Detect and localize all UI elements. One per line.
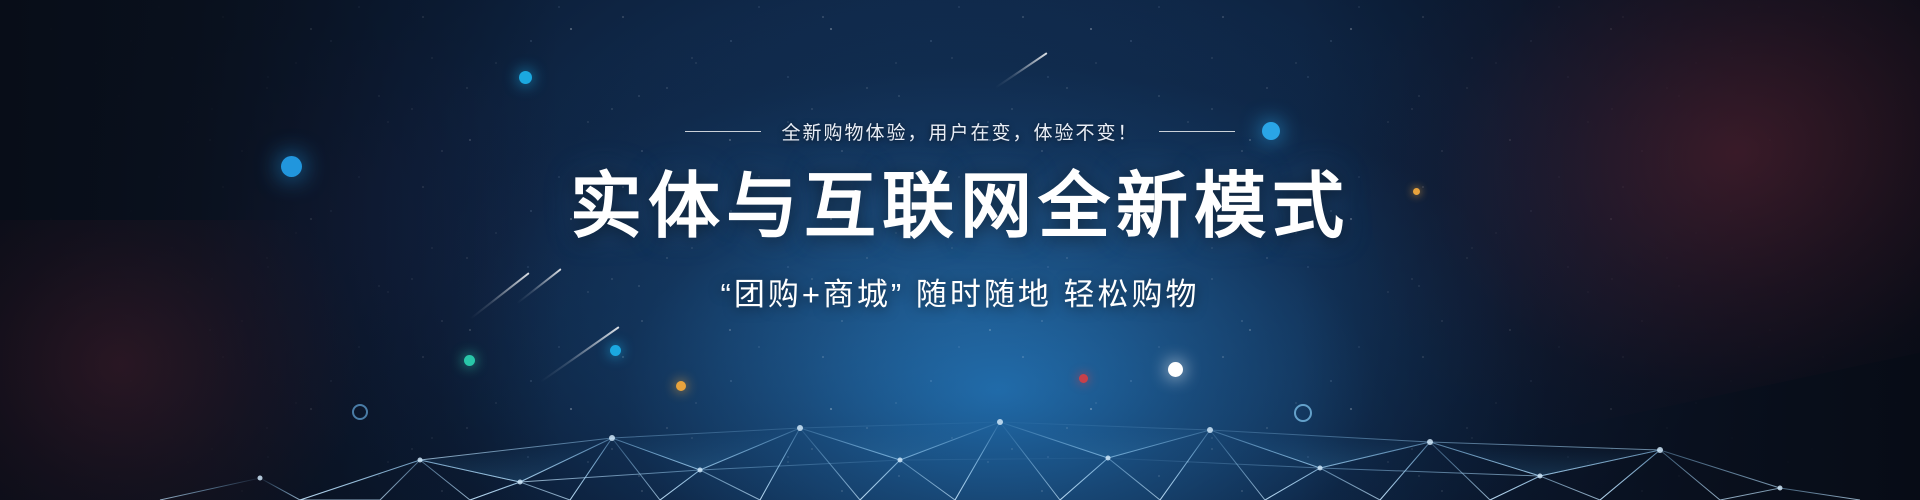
banner-content: 全新购物体验，用户在变，体验不变！ 实体与互联网全新模式 “团购+商城” 随时随… (0, 0, 1920, 500)
tagline-text: 全新购物体验，用户在变，体验不变！ (781, 118, 1138, 145)
subline: “团购+商城” 随时随地 轻松购物 (721, 269, 1200, 314)
headline: 实体与互联网全新模式 (570, 169, 1350, 247)
tagline-row: 全新购物体验，用户在变，体验不变！ (685, 118, 1234, 145)
hero-banner: 全新购物体验，用户在变，体验不变！ 实体与互联网全新模式 “团购+商城” 随时随… (0, 0, 1920, 500)
tagline-rule-right-icon (1159, 131, 1235, 132)
tagline-rule-left-icon (685, 131, 761, 132)
